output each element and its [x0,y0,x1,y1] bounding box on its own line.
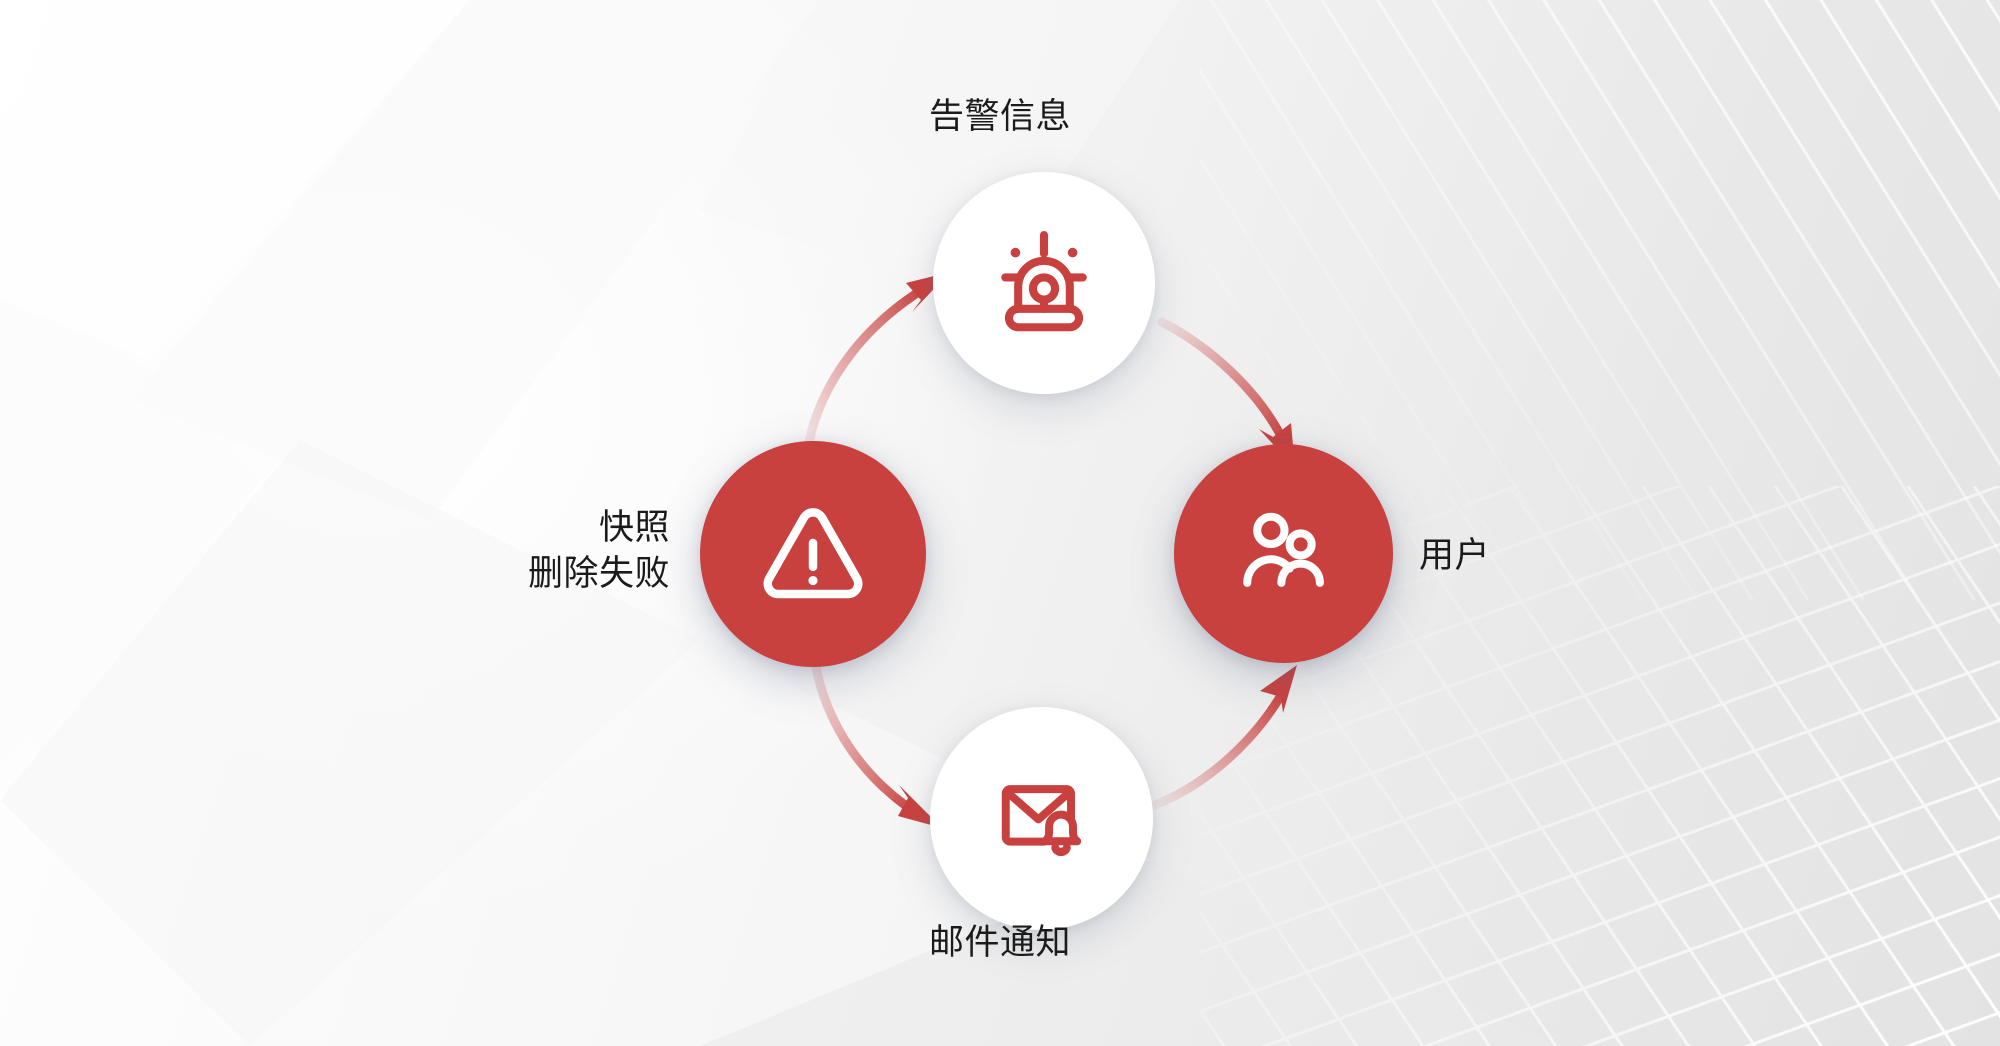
users-icon [1228,498,1340,610]
arrow-warning-to-alarm [806,272,950,462]
label-email-notification: 邮件通知 [0,920,2000,966]
node-users[interactable] [1174,444,1393,663]
node-email-notification[interactable] [930,707,1153,930]
mail-bell-icon [984,761,1100,877]
arrow-warning-to-mail [813,648,942,828]
alarm-siren-icon [985,224,1103,342]
warning-triangle-icon [754,495,872,613]
label-snapshot-delete-failed: 快照 删除失败 [300,505,670,597]
node-alarm-info[interactable] [933,172,1155,394]
node-snapshot-delete-failed[interactable] [700,441,926,667]
diagram-canvas: 告警信息 快照 删除失败 用户 邮件通知 [0,0,2000,1046]
label-alarm-info: 告警信息 [0,94,2000,140]
cycle-diagram: 告警信息 快照 删除失败 用户 邮件通知 [0,0,2000,1046]
label-users: 用户 [1419,533,1490,579]
arrow-mail-to-users [1155,665,1297,805]
